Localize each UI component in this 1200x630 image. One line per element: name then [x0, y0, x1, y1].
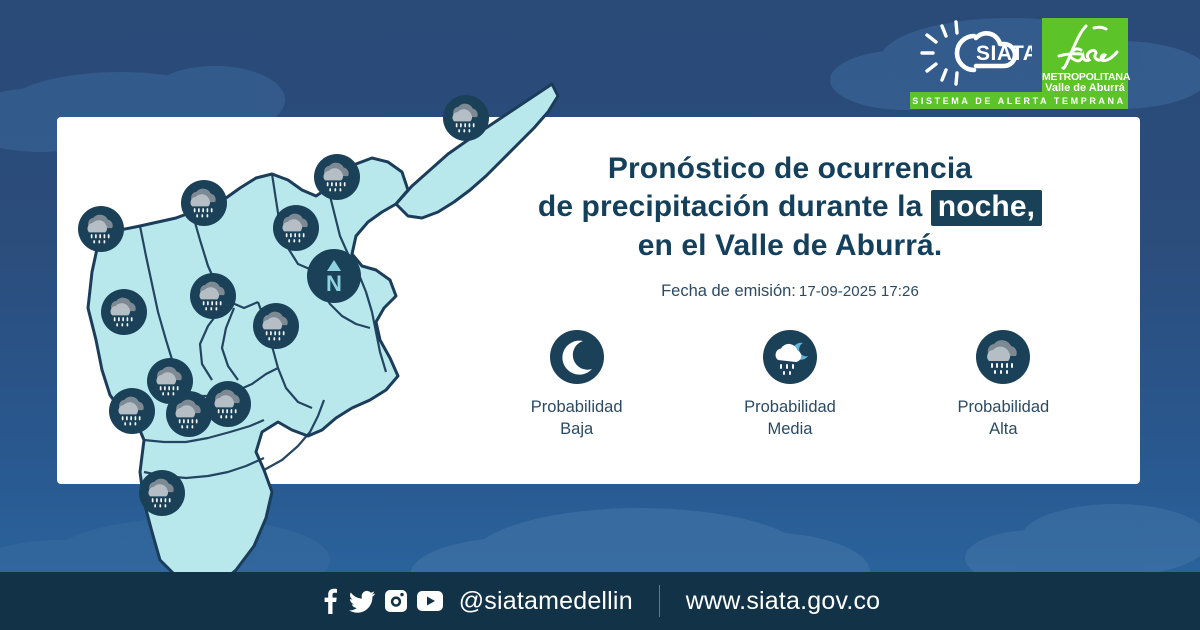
legend-baja-line1: Probabilidad [492, 396, 662, 418]
area-logo-line1: METROPOLITANA [1042, 72, 1128, 83]
legend-item-media: Probabilidad Media [705, 330, 875, 441]
social-icons [320, 588, 443, 614]
tagline-bar: SISTEMA DE ALERTA TEMPRANA [910, 92, 1128, 109]
map-marker-alta [443, 95, 489, 141]
headline-line-2: de precipitación durante la noche, [470, 188, 1110, 226]
twitter-icon[interactable] [349, 588, 375, 614]
siata-wordmark: SIATA [976, 42, 1032, 65]
map-marker-alta [139, 470, 185, 516]
headline-line-1: Pronóstico de ocurrencia [470, 150, 1110, 188]
siata-logo-icon: SIATA [914, 18, 1032, 88]
headline-block: Pronóstico de ocurrencia de precipitació… [470, 150, 1110, 301]
cloud-moon-rain-icon [763, 330, 817, 384]
map-marker-alta [181, 180, 227, 226]
map-marker-alta [109, 388, 155, 434]
logo-group: SIATA METROPOLITANA Valle de Aburrá [914, 18, 1128, 96]
headline-line-3: en el Valle de Aburrá. [470, 227, 1110, 265]
footer-bar: @siatamedellin www.siata.gov.co [0, 572, 1200, 630]
legend-media-line1: Probabilidad [705, 396, 875, 418]
legend-alta-line2: Alta [918, 418, 1088, 440]
page-title: Pronóstico de ocurrencia de precipitació… [470, 150, 1110, 265]
headline-line-2-pre: de precipitación durante la [538, 190, 922, 223]
legend-label-baja: Probabilidad Baja [492, 396, 662, 441]
facebook-icon[interactable] [320, 588, 340, 614]
social-handle[interactable]: @siatamedellin [459, 587, 633, 616]
legend-item-baja: Probabilidad Baja [492, 330, 662, 441]
legend-media-line2: Media [705, 418, 875, 440]
map-marker-alta [273, 205, 319, 251]
map-marker-alta [78, 206, 124, 252]
north-compass-icon: N [307, 249, 361, 303]
instagram-icon[interactable] [384, 589, 408, 613]
cloud-heavy-rain-icon [976, 330, 1030, 384]
headline-highlight-noche: noche, [931, 190, 1042, 226]
map-marker-alta [253, 303, 299, 349]
probability-legend: Probabilidad Baja Probabilidad Media [470, 330, 1110, 441]
map-marker-alta [190, 273, 236, 319]
legend-label-alta: Probabilidad Alta [918, 396, 1088, 441]
website-link[interactable]: www.siata.gov.co [686, 587, 880, 616]
emission-date: Fecha de emisión:17-09-2025 17:26 [470, 282, 1110, 301]
emission-label: Fecha de emisión: [661, 282, 796, 300]
footer-divider [659, 585, 660, 617]
legend-alta-line1: Probabilidad [918, 396, 1088, 418]
legend-item-alta: Probabilidad Alta [918, 330, 1088, 441]
moon-icon [550, 330, 604, 384]
legend-baja-line2: Baja [492, 418, 662, 440]
tagline-text: SISTEMA DE ALERTA TEMPRANA [912, 96, 1125, 106]
map-marker-alta [314, 154, 360, 200]
infographic-stage: N SIATA [0, 0, 1200, 630]
area-metropolitana-logo: METROPOLITANA Valle de Aburrá [1042, 18, 1128, 96]
map-marker-alta [101, 289, 147, 335]
map-marker-alta [166, 391, 212, 437]
legend-label-media: Probabilidad Media [705, 396, 875, 441]
emission-value: 17-09-2025 17:26 [799, 283, 919, 300]
area-script-icon [1042, 20, 1128, 72]
youtube-icon[interactable] [417, 591, 443, 611]
north-label: N [326, 271, 342, 296]
